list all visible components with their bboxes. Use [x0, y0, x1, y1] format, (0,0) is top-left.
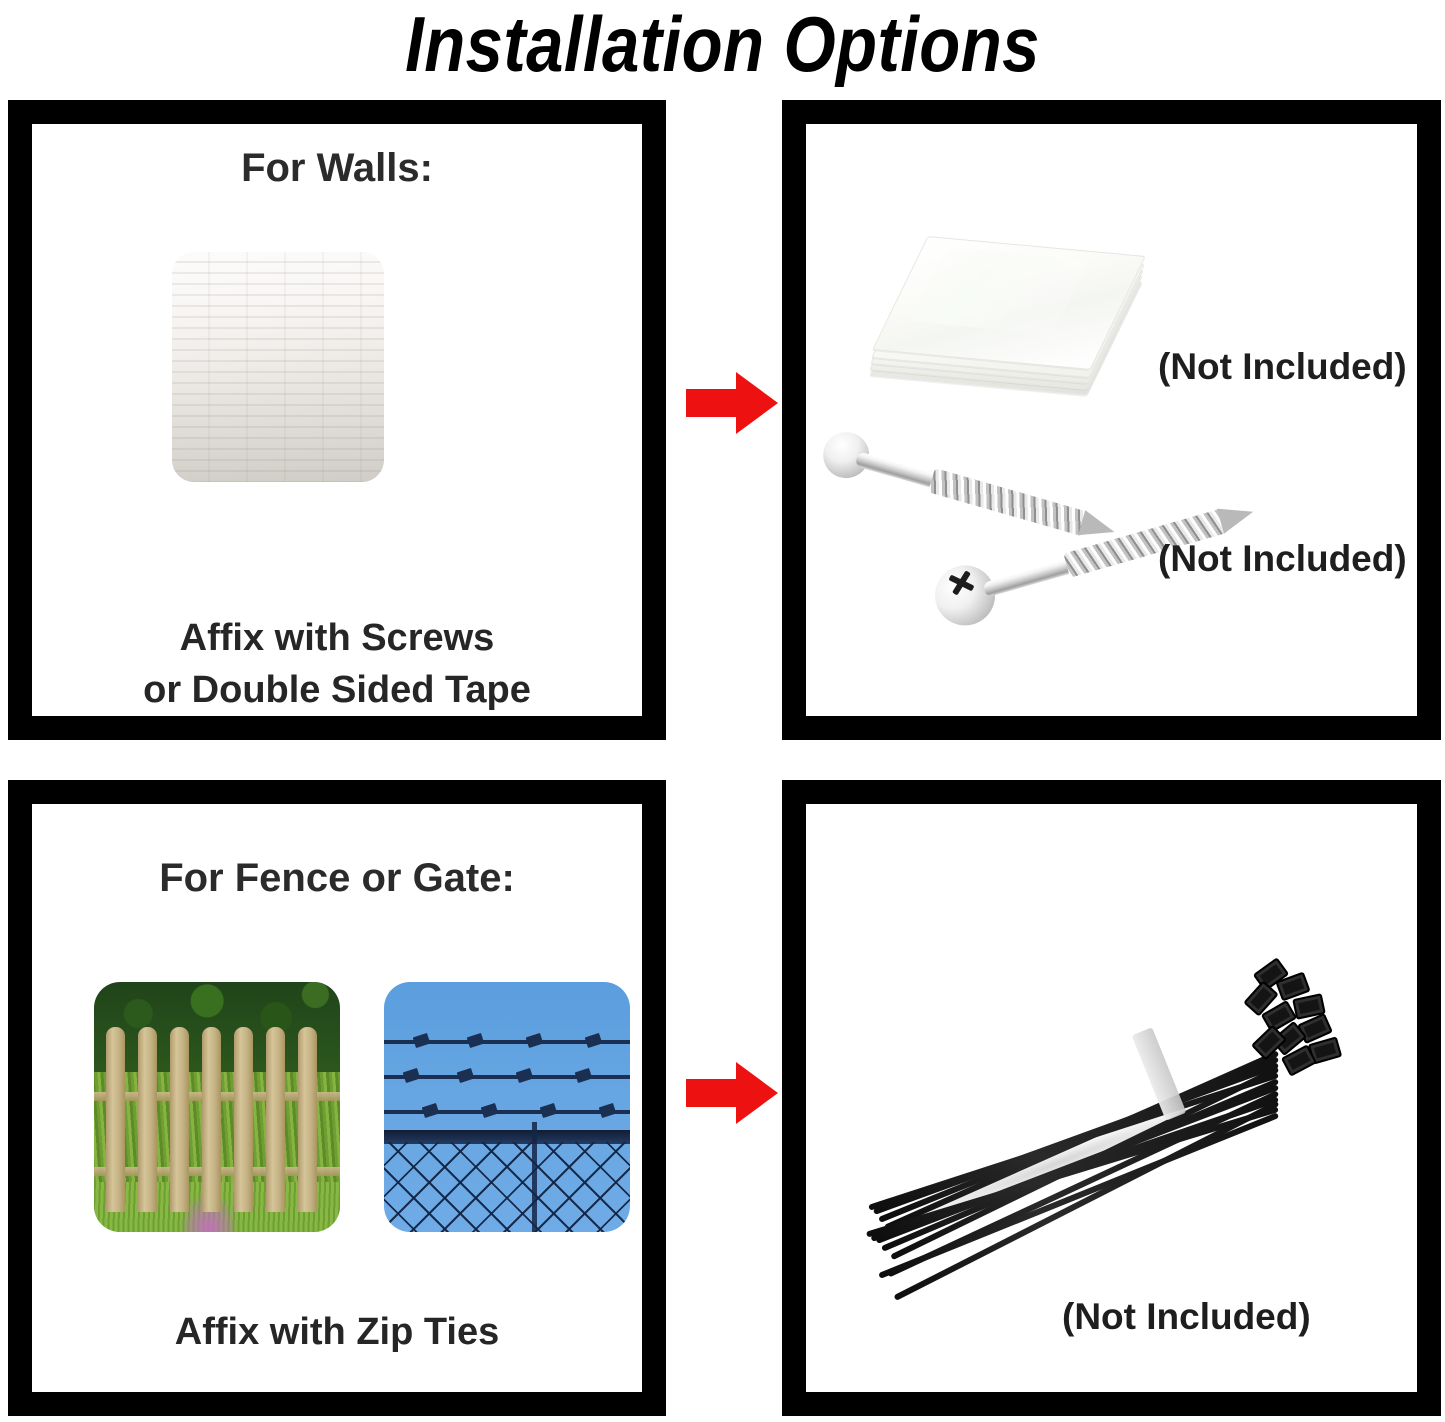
panel-for-fence-or-gate: For Fence or Gate: [8, 780, 666, 1416]
chain-link-barbed-wire-fence-photo [384, 982, 630, 1232]
screws-not-included-label: (Not Included) [1158, 538, 1407, 580]
panel-zip-ties: (Not Included) [782, 780, 1441, 1416]
for-walls-heading: For Walls: [32, 146, 642, 191]
fence-post [532, 1122, 537, 1232]
panel-wall-hardware-body: (Not Included) (Not Included) [806, 124, 1417, 716]
fence-picket [234, 1027, 253, 1212]
for-walls-caption-line1: Affix with Screws [32, 612, 642, 664]
double-sided-tape-stack [868, 240, 1136, 392]
fence-picket [202, 1027, 221, 1212]
tape-not-included-label: (Not Included) [1158, 346, 1407, 388]
panel-wall-hardware: (Not Included) (Not Included) [782, 100, 1441, 740]
black-zip-tie-bundle [848, 900, 1348, 1280]
fence-picket [266, 1027, 285, 1212]
zip-tie [866, 1106, 1279, 1237]
red-right-arrow-icon-top [686, 372, 778, 439]
for-walls-caption-line2: or Double Sided Tape [32, 664, 642, 716]
red-right-arrow-icon-bottom [686, 1062, 778, 1129]
barbed-wire-line [384, 1075, 630, 1079]
barbed-wire-line [384, 1110, 630, 1114]
swatch-brick-verticals [172, 252, 384, 482]
brick-wall-swatch [172, 252, 384, 482]
ziptie-not-included-label: (Not Included) [1062, 1296, 1311, 1338]
panel-for-fence-or-gate-body: For Fence or Gate: [32, 804, 642, 1392]
panel-for-walls-body: For Walls: Affix with Screws or Double S… [32, 124, 642, 716]
fence-picket [106, 1027, 125, 1212]
screw-thread [928, 468, 1089, 536]
wooden-picket-fence-photo [94, 982, 340, 1232]
fence-picket [138, 1027, 157, 1212]
fence-picket [298, 1027, 317, 1212]
screw-tip [1217, 499, 1257, 533]
panel-zip-ties-body: (Not Included) [806, 804, 1417, 1392]
page-title: Installation Options [101, 0, 1344, 92]
for-fence-heading: For Fence or Gate: [32, 856, 642, 901]
panel-for-walls: For Walls: Affix with Screws or Double S… [8, 100, 666, 740]
fence-picket [170, 1027, 189, 1212]
for-fence-caption: Affix with Zip Ties [32, 1306, 642, 1358]
chain-link-mesh [384, 1142, 630, 1232]
